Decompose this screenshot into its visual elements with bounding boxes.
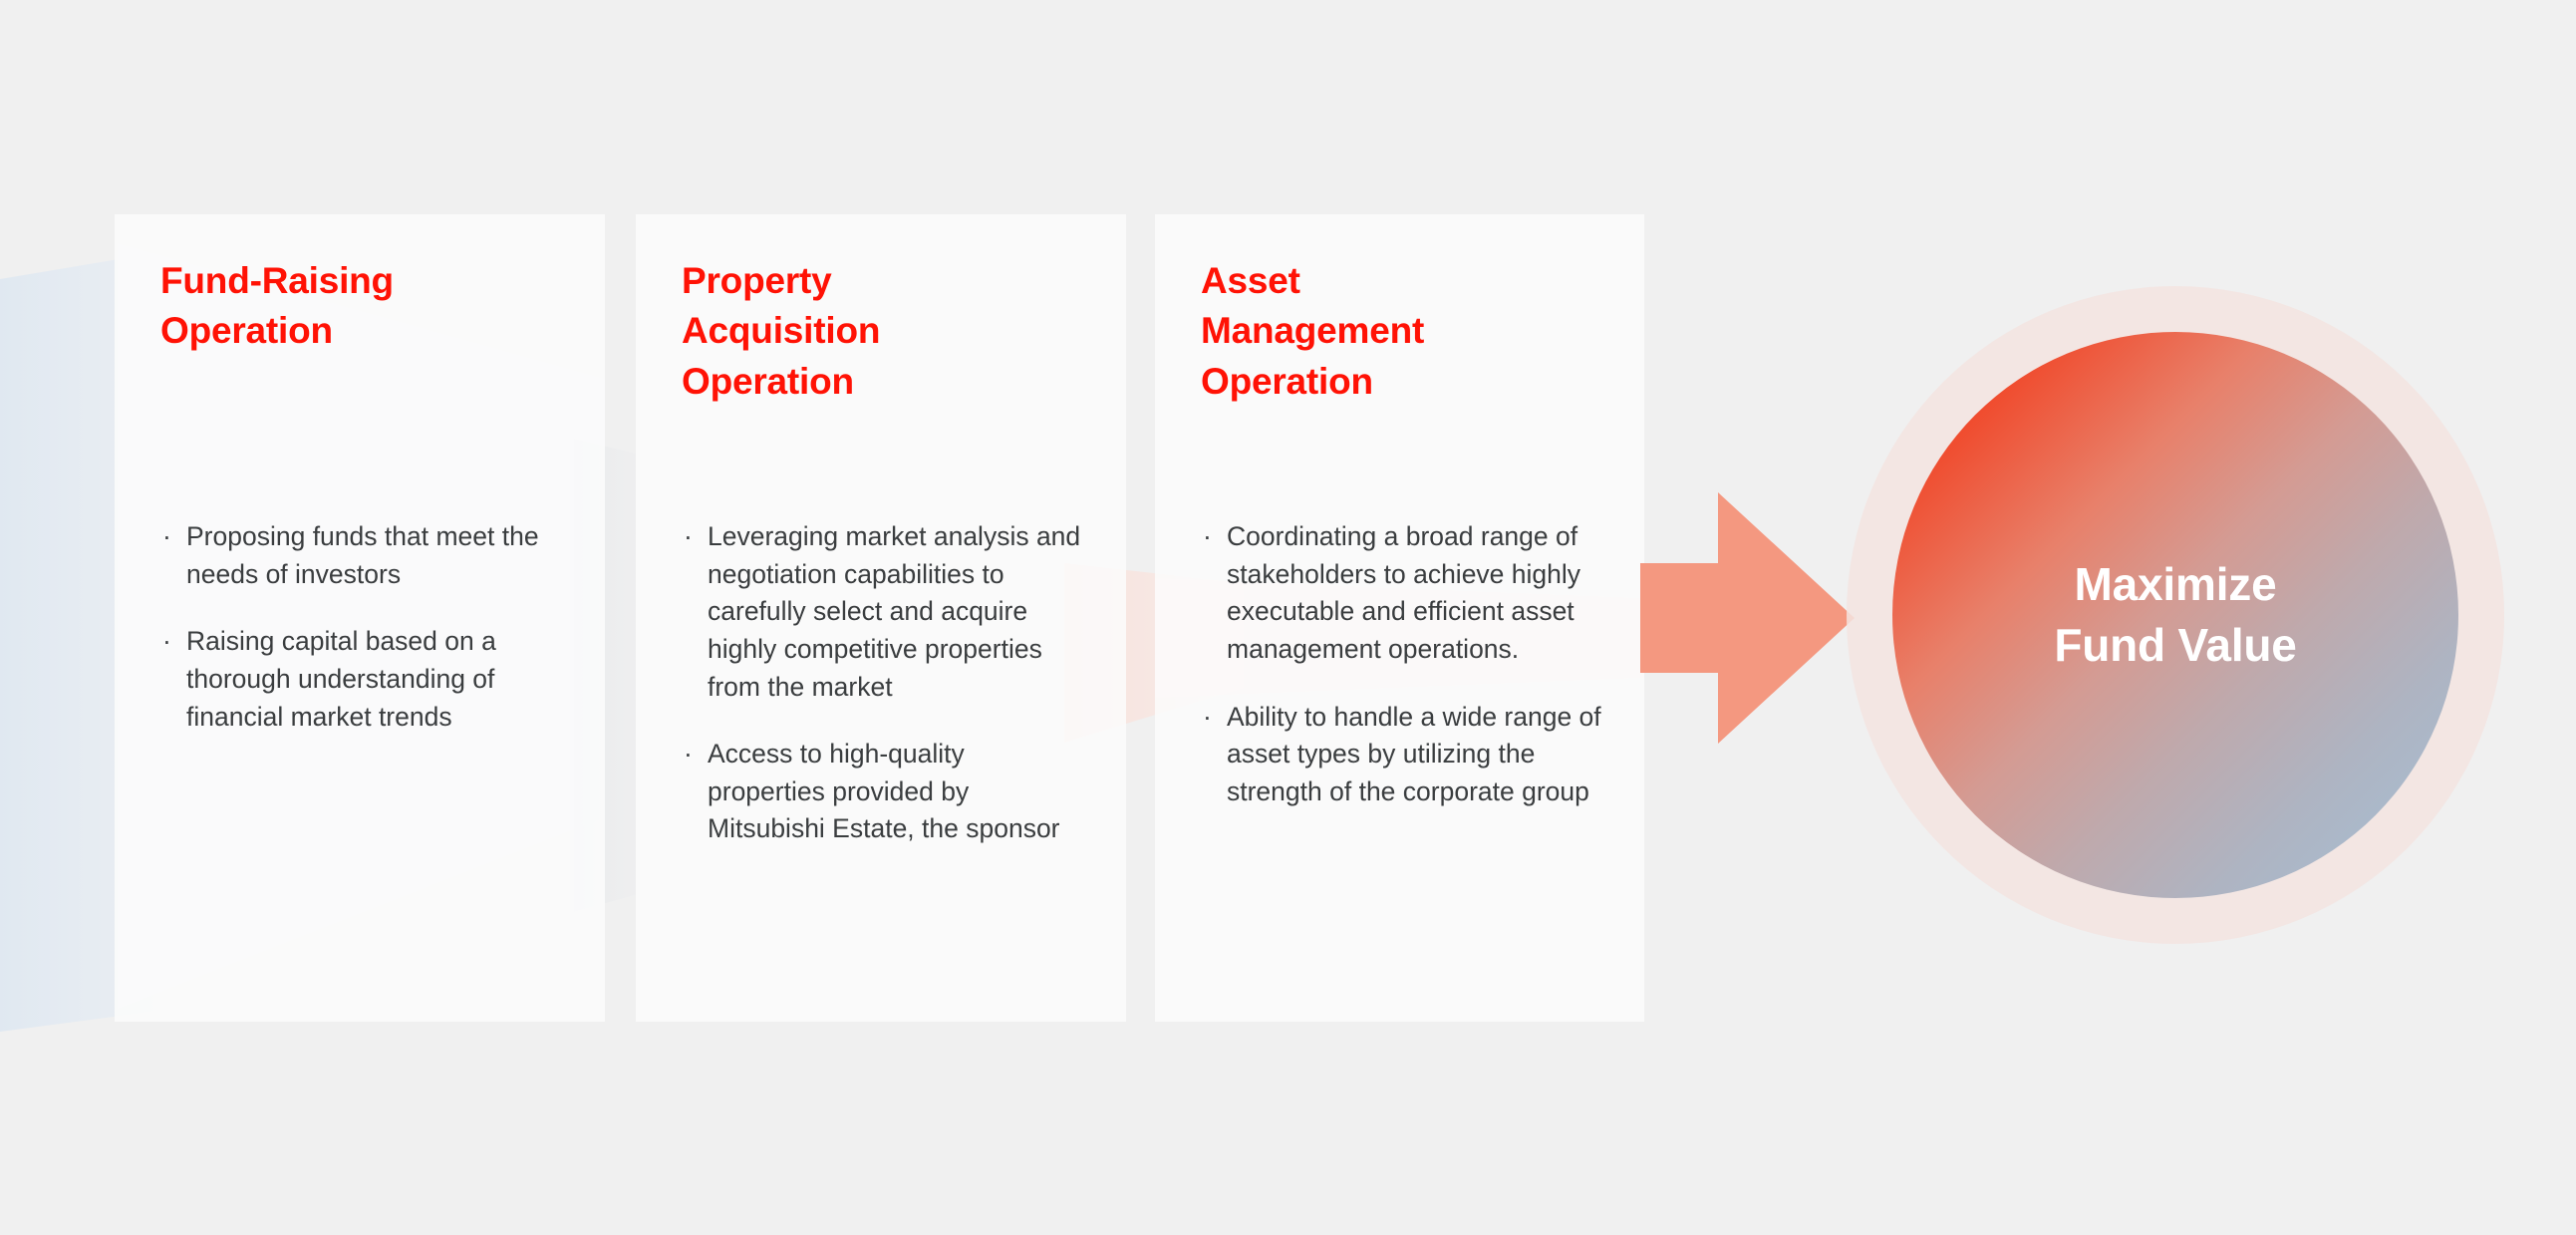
stage-title: Fund-Raising Operation: [160, 256, 559, 357]
list-item-text: Proposing funds that meet the needs of i…: [186, 521, 539, 589]
bullet-dot-icon: ·: [1203, 699, 1212, 737]
list-item: · Access to high-quality properties prov…: [682, 736, 1086, 848]
bullet-dot-icon: ·: [1203, 518, 1212, 556]
arrow-right-icon: [1640, 492, 1855, 744]
list-item: · Ability to handle a wide range of asse…: [1201, 699, 1604, 811]
outcome-circle-core: Maximize Fund Value: [1892, 332, 2458, 898]
list-item: · Leveraging market analysis and negotia…: [682, 518, 1086, 706]
list-item-text: Raising capital based on a thorough unde…: [186, 626, 496, 731]
bullet-dot-icon: ·: [162, 623, 171, 661]
bullet-dot-icon: ·: [162, 518, 171, 556]
list-item-text: Coordinating a broad range of stakeholde…: [1227, 521, 1580, 664]
bullet-dot-icon: ·: [684, 518, 693, 556]
stage-card-property-acquisition: Property Acquisition Operation · Leverag…: [636, 214, 1126, 1022]
stage-bullet-list: · Leveraging market analysis and negotia…: [682, 518, 1086, 848]
list-item-text: Access to high-quality properties provid…: [708, 739, 1060, 843]
stage-card-fund-raising: Fund-Raising Operation · Proposing funds…: [115, 214, 605, 1022]
diagram-canvas: Fund-Raising Operation · Proposing funds…: [0, 0, 2576, 1235]
bullet-dot-icon: ·: [684, 736, 693, 773]
stage-title: Property Acquisition Operation: [682, 256, 1080, 407]
stage-bullet-list: · Proposing funds that meet the needs of…: [160, 518, 565, 736]
outcome-circle: Maximize Fund Value: [1847, 286, 2504, 944]
list-item: · Coordinating a broad range of stakehol…: [1201, 518, 1604, 669]
stage-title: Asset Management Operation: [1201, 256, 1598, 407]
outcome-label: Maximize Fund Value: [2054, 554, 2296, 675]
list-item-text: Leveraging market analysis and negotiati…: [708, 521, 1080, 702]
list-item: · Proposing funds that meet the needs of…: [160, 518, 565, 593]
list-item: · Raising capital based on a thorough un…: [160, 623, 565, 736]
stage-card-asset-management: Asset Management Operation · Coordinatin…: [1155, 214, 1644, 1022]
stage-bullet-list: · Coordinating a broad range of stakehol…: [1201, 518, 1604, 810]
list-item-text: Ability to handle a wide range of asset …: [1227, 702, 1601, 806]
